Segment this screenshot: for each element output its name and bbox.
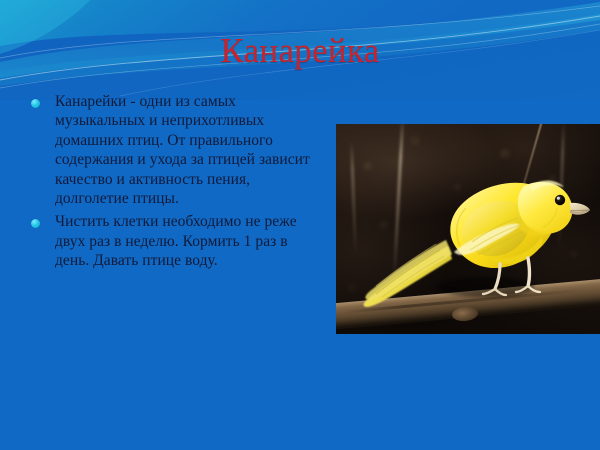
slide-title: Канарейка (0, 30, 600, 72)
presentation-slide: Канарейка Канарейки - одни из самых музы… (0, 0, 600, 450)
bullet-text: Чистить клетки необходимо не реже двух р… (55, 212, 312, 270)
round-bullet-icon (31, 219, 40, 228)
canary-photo (336, 124, 600, 334)
content-text-block: Канарейки - одни из самых музыкальных и … (26, 92, 312, 275)
canary-bird-illustration (336, 124, 600, 334)
round-bullet-icon (31, 99, 40, 108)
list-item: Чистить клетки необходимо не реже двух р… (26, 212, 312, 270)
list-item: Канарейки - одни из самых музыкальных и … (26, 92, 312, 208)
bullet-text: Канарейки - одни из самых музыкальных и … (55, 92, 312, 208)
